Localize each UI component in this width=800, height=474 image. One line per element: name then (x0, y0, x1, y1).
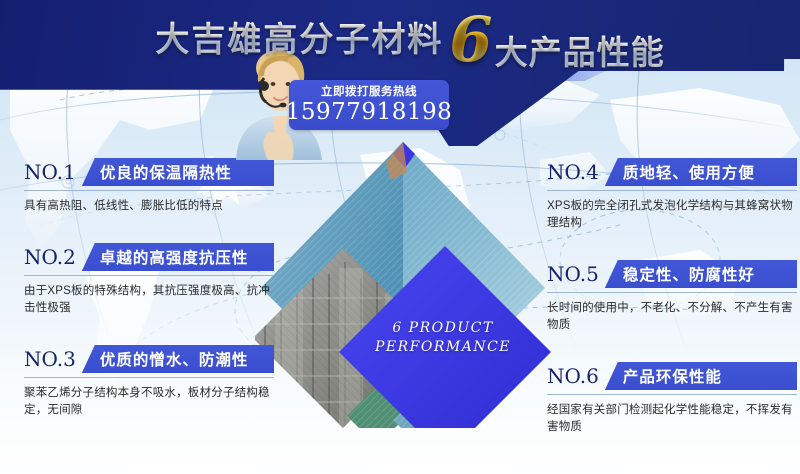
feature-6-title-bar[interactable]: 产品环保性能 (605, 362, 797, 390)
feature-item-3[interactable]: NO.3 优质的憎水、防潮性 聚苯乙烯分子结构本身不吸水，板材分子结构稳定，无间… (24, 345, 274, 419)
feature-2-description: 由于XPS板的特殊结构，其抗压强度极高、抗冲击性极强 (24, 283, 274, 317)
feature-item-2[interactable]: NO.2 卓越的高强度抗压性 由于XPS板的特殊结构，其抗压强度极高、抗冲击性极… (24, 243, 274, 317)
feature-4-underline (547, 190, 797, 191)
hotline-box[interactable]: 立即拨打服务热线 15977918198 (289, 80, 449, 130)
feature-6-underline (547, 394, 797, 395)
feature-item-1[interactable]: NO.1 优良的保温隔热性 具有高热阻、低线性、膨胀比低的特点 (24, 158, 274, 215)
feature-3-underline (24, 377, 274, 378)
title-number-six: 6 (449, 12, 492, 68)
features-column-right: NO.4 质地轻、使用方便 XPS板的完全闭孔式发泡化学结构与其蜂窝状物理结构 … (547, 158, 797, 464)
title-main-text: 大吉雄高分子材料 (155, 12, 443, 61)
hotline-label: 立即拨打服务热线 (321, 85, 417, 99)
feature-4-number: NO.4 (547, 158, 605, 186)
feature-item-5[interactable]: NO.5 稳定性、防腐性好 长时间的使用中，不老化、不分解、不产生有害物质 (547, 260, 797, 334)
feature-2-underline (24, 275, 274, 276)
feature-5-title-bar[interactable]: 稳定性、防腐性好 (605, 260, 797, 288)
feature-1-underline (24, 190, 274, 191)
feature-1-number: NO.1 (24, 158, 82, 186)
center-diamond-artwork: 6 PRODUCT PERFORMANCE (255, 128, 555, 428)
feature-5-title: 稳定性、防腐性好 (623, 263, 755, 285)
feature-3-title-bar[interactable]: 优质的憎水、防潮性 (82, 345, 274, 373)
feature-4-head: NO.4 质地轻、使用方便 (547, 158, 797, 189)
title-tail-text: 大产品性能 (495, 26, 665, 74)
feature-1-description: 具有高热阻、低线性、膨胀比低的特点 (24, 198, 274, 215)
feature-item-4[interactable]: NO.4 质地轻、使用方便 XPS板的完全闭孔式发泡化学结构与其蜂窝状物理结构 (547, 158, 797, 232)
feature-item-6[interactable]: NO.6 产品环保性能 经国家有关部门检测起化学性能稳定，不挥发有害物质 (547, 362, 797, 436)
feature-3-number: NO.3 (24, 345, 82, 373)
feature-6-description: 经国家有关部门检测起化学性能稳定，不挥发有害物质 (547, 402, 797, 436)
feature-2-title: 卓越的高强度抗压性 (100, 246, 249, 268)
feature-2-title-bar[interactable]: 卓越的高强度抗压性 (82, 243, 274, 271)
feature-2-number: NO.2 (24, 243, 82, 271)
feature-2-head: NO.2 卓越的高强度抗压性 (24, 243, 274, 274)
feature-5-number: NO.5 (547, 260, 605, 288)
feature-5-head: NO.5 稳定性、防腐性好 (547, 260, 797, 291)
feature-4-title-bar[interactable]: 质地轻、使用方便 (605, 158, 797, 186)
feature-4-description: XPS板的完全闭孔式发泡化学结构与其蜂窝状物理结构 (547, 198, 797, 232)
promo-banner: 大吉雄高分子材料 6 大产品性能 立即拨 (0, 0, 800, 474)
hotline-number: 15977918198 (286, 99, 452, 125)
feature-3-title: 优质的憎水、防潮性 (100, 348, 249, 370)
page-title: 大吉雄高分子材料 6 大产品性能 (0, 8, 800, 64)
feature-1-title-bar[interactable]: 优良的保温隔热性 (82, 158, 274, 186)
feature-5-description: 长时间的使用中，不老化、不分解、不产生有害物质 (547, 300, 797, 334)
center-diamond-svg (255, 128, 555, 428)
feature-6-head: NO.6 产品环保性能 (547, 362, 797, 393)
feature-1-head: NO.1 优良的保温隔热性 (24, 158, 274, 189)
feature-4-title: 质地轻、使用方便 (623, 161, 755, 183)
feature-6-number: NO.6 (547, 362, 605, 390)
feature-6-title: 产品环保性能 (623, 365, 722, 387)
feature-1-title: 优良的保温隔热性 (100, 161, 232, 183)
feature-5-underline (547, 292, 797, 293)
feature-3-head: NO.3 优质的憎水、防潮性 (24, 345, 274, 376)
features-column-left: NO.1 优良的保温隔热性 具有高热阻、低线性、膨胀比低的特点 NO.2 卓越的… (24, 158, 274, 447)
feature-3-description: 聚苯乙烯分子结构本身不吸水，板材分子结构稳定，无间隙 (24, 385, 274, 419)
